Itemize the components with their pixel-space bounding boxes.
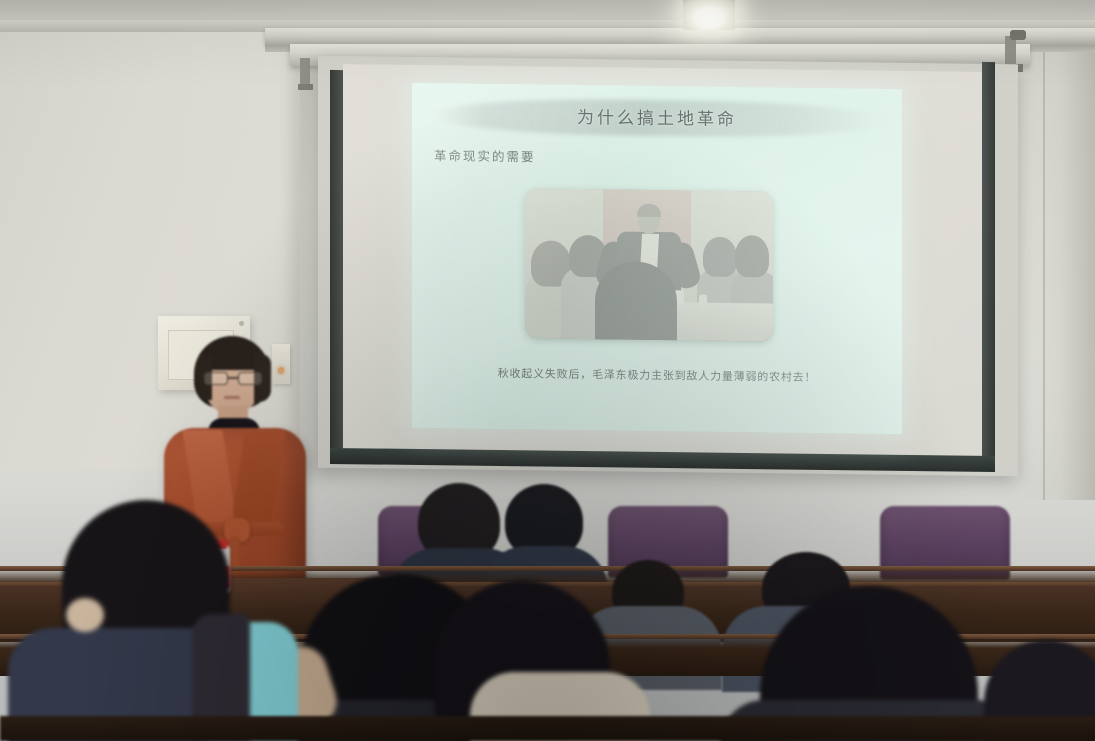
screen-border-right bbox=[982, 62, 995, 464]
wall-seam bbox=[1043, 0, 1045, 500]
lecture-hall-scene: 为什么搞土地革命 革命现实的需要 秋收起义失败后，毛泽东极力主张到 bbox=[0, 0, 1095, 741]
slide-photo bbox=[525, 188, 773, 341]
slide-caption: 秋收起义失败后，毛泽东极力主张到敌人力量薄弱的农村去！ bbox=[412, 364, 902, 386]
projected-slide: 为什么搞土地革命 革命现实的需要 秋收起义失败后，毛泽东极力主张到 bbox=[412, 83, 902, 434]
photo-projection-wash bbox=[525, 188, 773, 341]
ceiling-light-icon bbox=[683, 0, 735, 30]
eyeglass-lens-left bbox=[204, 372, 228, 385]
desk-row-front bbox=[0, 716, 1095, 741]
slide-subtitle: 革命现实的需要 bbox=[434, 145, 536, 165]
screen-bracket-left-arm bbox=[298, 84, 313, 90]
screen-border-left bbox=[330, 70, 343, 462]
audience-hair-clip bbox=[66, 598, 104, 632]
presenter-eyeglasses-icon bbox=[204, 372, 262, 385]
presenter-mouth bbox=[224, 396, 240, 399]
eyeglass-bridge bbox=[228, 377, 238, 379]
wall-control-box-screw bbox=[239, 321, 244, 326]
screen-bracket-right-clamp bbox=[1010, 30, 1026, 40]
eyeglass-lens-right bbox=[238, 372, 262, 385]
right-wall-edge bbox=[1017, 0, 1095, 500]
